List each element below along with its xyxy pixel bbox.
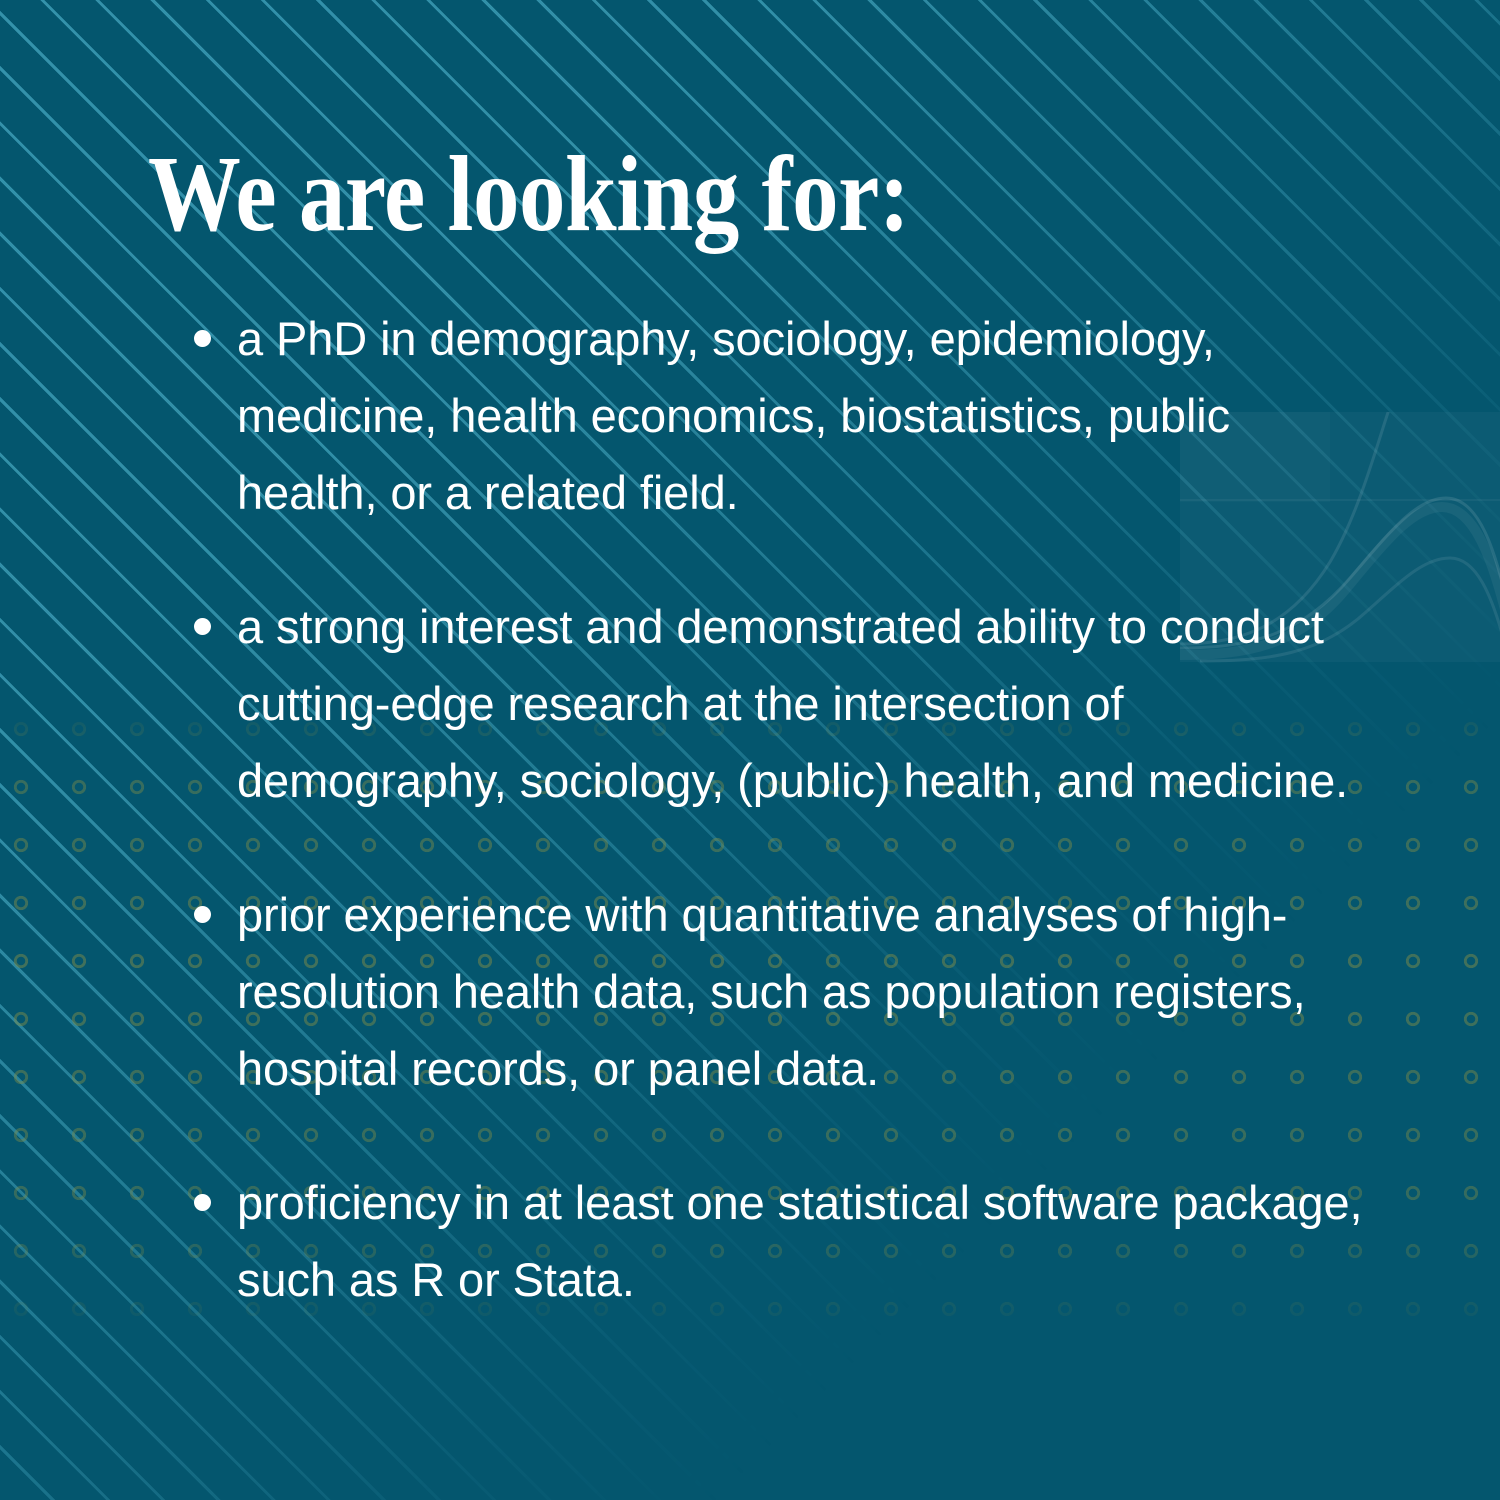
list-item-text: a strong interest and demonstrated abili… <box>237 588 1376 819</box>
list-item-text: proficiency in at least one statistical … <box>237 1164 1376 1318</box>
list-item: prior experience with quantitative analy… <box>186 876 1376 1107</box>
bullet-dot-icon <box>194 906 211 923</box>
list-item: a PhD in demography, sociology, epidemio… <box>186 300 1376 531</box>
slide-canvas: We are looking for: a PhD in demography,… <box>0 0 1500 1500</box>
bullet-dot-icon <box>194 330 211 347</box>
list-item: a strong interest and demonstrated abili… <box>186 588 1376 819</box>
requirements-list: a PhD in demography, sociology, epidemio… <box>186 300 1376 1318</box>
list-item: proficiency in at least one statistical … <box>186 1164 1376 1318</box>
list-item-text: a PhD in demography, sociology, epidemio… <box>237 300 1376 531</box>
bullet-dot-icon <box>194 618 211 635</box>
slide-content: We are looking for: a PhD in demography,… <box>0 0 1500 1500</box>
list-item-text: prior experience with quantitative analy… <box>237 876 1376 1107</box>
page-title: We are looking for: <box>148 138 909 251</box>
bullet-dot-icon <box>194 1194 211 1211</box>
